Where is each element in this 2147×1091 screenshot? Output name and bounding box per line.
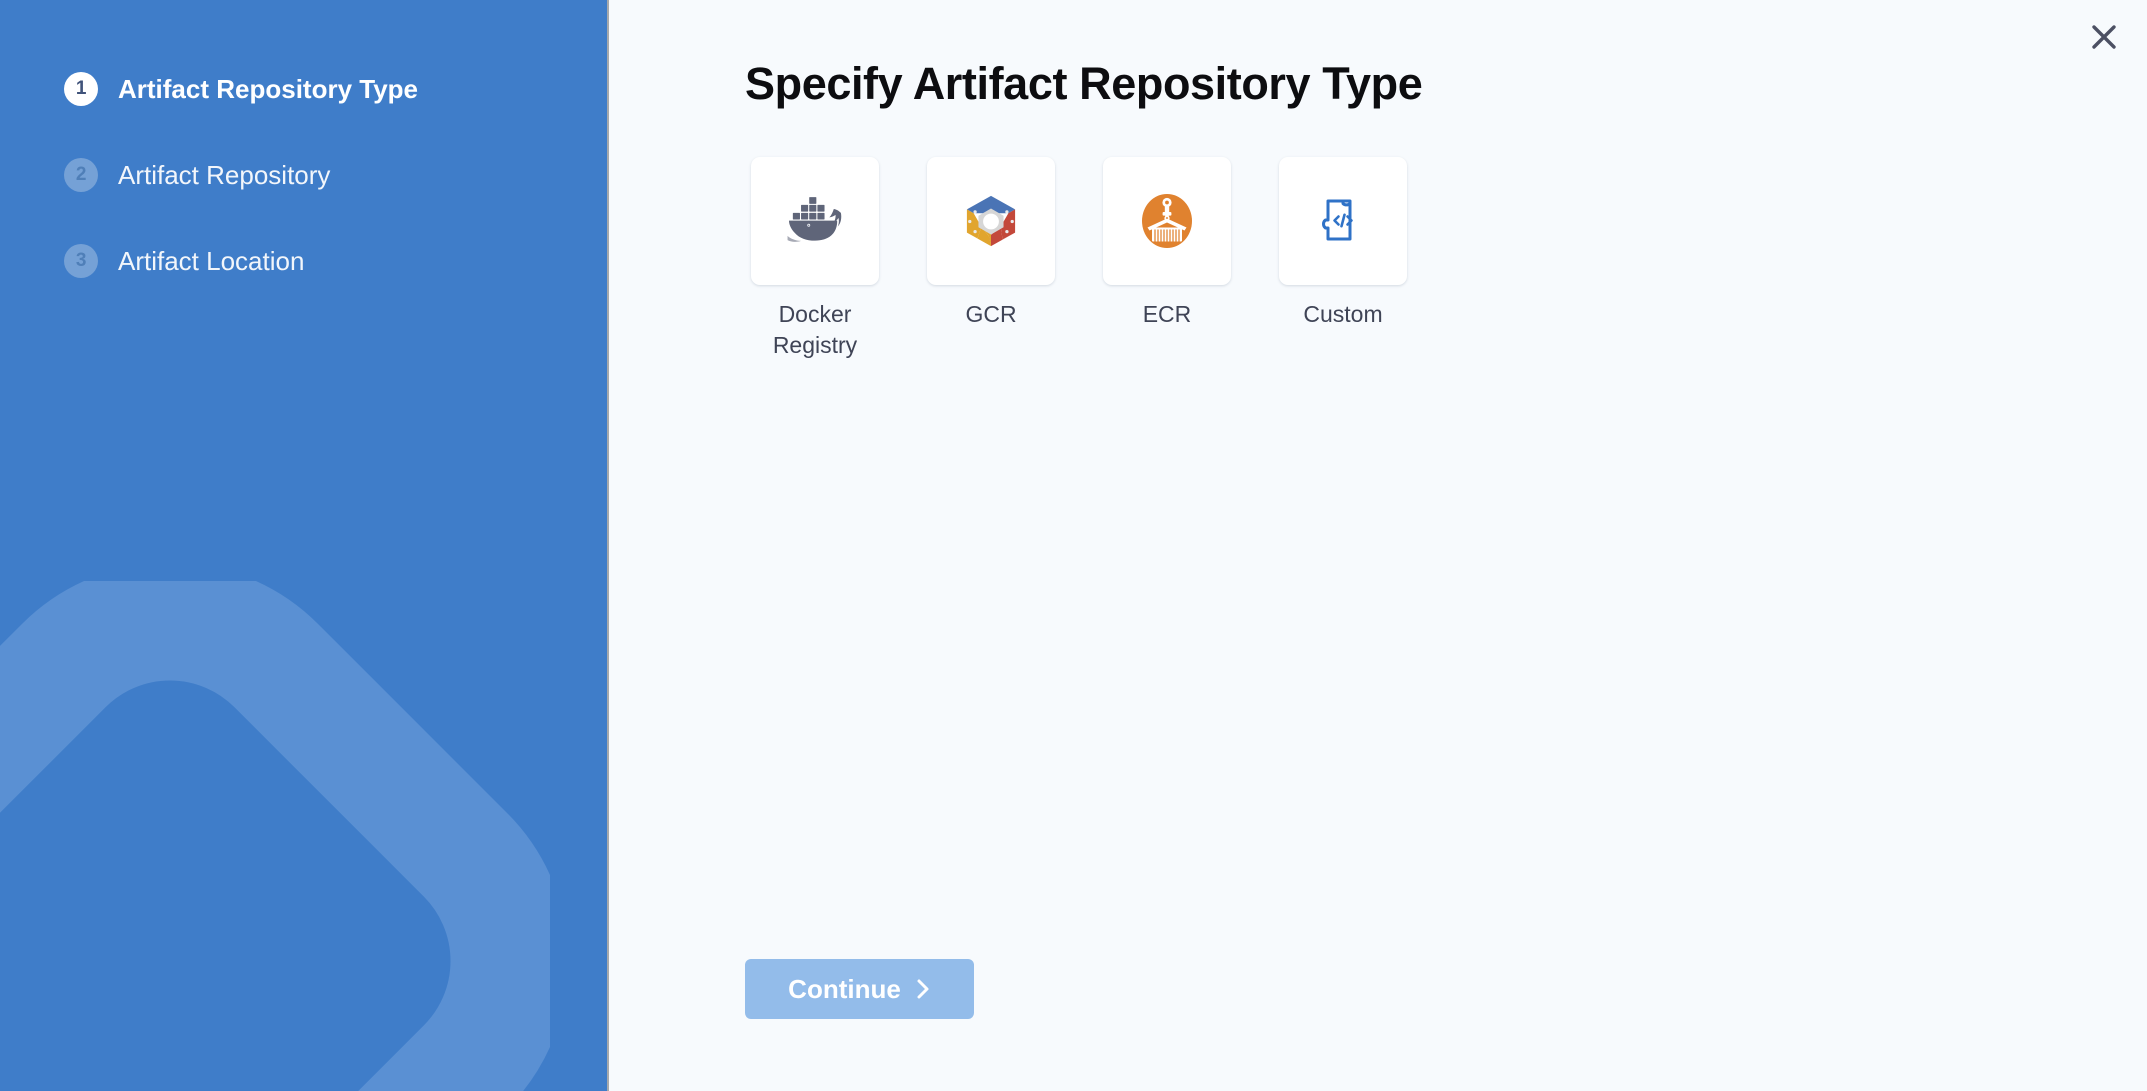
artifact-repository-wizard: 1 Artifact Repository Type 2 Artifact Re… [0,0,2147,1091]
type-label: ECR [1143,299,1192,330]
sidebar-step-artifact-repository[interactable]: 2 Artifact Repository [0,153,607,197]
type-card[interactable] [1103,157,1231,285]
google-cloud-hexagon-icon [962,194,1020,248]
type-label: Custom [1303,299,1382,330]
type-option-custom[interactable]: Custom [1279,157,1407,330]
chevron-right-icon [915,977,931,1001]
wizard-sidebar: 1 Artifact Repository Type 2 Artifact Re… [0,0,609,1091]
step-label: Artifact Repository [118,160,330,191]
wizard-main-panel: Specify Artifact Repository Type [609,0,2147,1091]
step-number-badge: 1 [64,72,98,106]
sidebar-step-artifact-location[interactable]: 3 Artifact Location [0,239,607,283]
step-label: Artifact Location [118,246,304,277]
aws-ecr-icon [1138,191,1196,251]
sidebar-watermark-icon [0,581,550,1091]
close-button[interactable] [2080,13,2128,61]
type-option-ecr[interactable]: ECR [1103,157,1231,330]
continue-button[interactable]: Continue [745,959,974,1019]
type-label: Docker Registry [751,299,879,361]
type-card[interactable] [927,157,1055,285]
step-number-badge: 3 [64,244,98,278]
continue-button-label: Continue [788,974,901,1005]
type-option-gcr[interactable]: GCR [927,157,1055,330]
step-number-badge: 2 [64,158,98,192]
type-card[interactable] [751,157,879,285]
sidebar-step-artifact-repository-type[interactable]: 1 Artifact Repository Type [0,67,607,111]
type-label: GCR [965,299,1016,330]
page-title: Specify Artifact Repository Type [745,58,1422,110]
docker-whale-icon [784,195,846,247]
close-icon [2090,23,2118,51]
wizard-step-list: 1 Artifact Repository Type 2 Artifact Re… [0,0,607,283]
type-card[interactable] [1279,157,1407,285]
artifact-repository-type-options: Docker Registry [751,157,1407,361]
custom-code-puzzle-icon [1317,195,1369,247]
step-label: Artifact Repository Type [118,74,418,105]
type-option-docker-registry[interactable]: Docker Registry [751,157,879,361]
